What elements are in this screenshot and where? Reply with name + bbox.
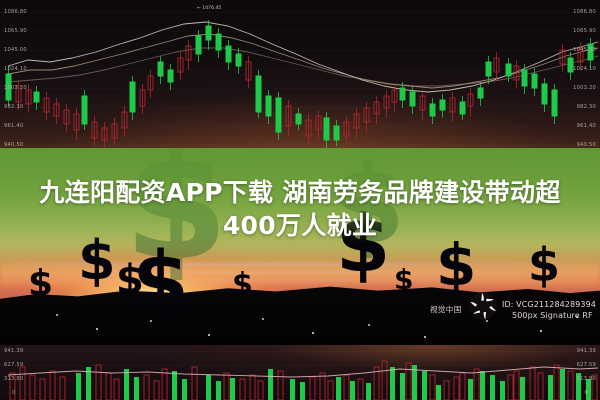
volume-axis-label-right: 0 (584, 390, 588, 396)
sparkle (208, 334, 210, 336)
volume-chart-panel: 941.39 627.59 313.80 0 941.39 627.59 313… (0, 345, 600, 400)
candle-group (6, 20, 593, 148)
dollar-sign-icon: $ (28, 266, 53, 302)
volume-plot (0, 345, 600, 400)
y-axis-label-left: 1045.00 (4, 47, 27, 53)
y-axis-label-right: 1003.20 (573, 85, 596, 91)
sparkle (368, 324, 370, 326)
sparkle (262, 318, 264, 320)
sparkle (424, 336, 426, 338)
y-axis-label-right: 1024.10 (573, 66, 596, 72)
y-axis-label-left: 1003.20 (4, 85, 27, 91)
y-axis-label-right: 961.40 (577, 123, 596, 129)
volume-bars (10, 361, 597, 400)
green-title-veil (0, 148, 600, 242)
y-axis-label-right: 1045.00 (573, 47, 596, 53)
dollar-sign-icon: $ (394, 266, 413, 294)
volume-axis-label-left: 627.59 (4, 362, 23, 368)
volume-ma-line (8, 367, 598, 377)
volume-axis-label-left: 0 (12, 390, 16, 396)
y-axis-label-left: 982.30 (4, 104, 23, 110)
sparkle (312, 332, 314, 334)
sparkle (56, 314, 58, 316)
y-axis-label-right: 982.30 (577, 104, 596, 110)
y-axis-label-left: 1024.10 (4, 66, 27, 72)
dollar-sign-icon: $ (132, 242, 189, 324)
y-axis-label-left: 961.40 (4, 123, 23, 129)
ma-short-line (8, 22, 598, 92)
y-axis-label-left: 1086.80 (4, 9, 27, 15)
watermark-id: ID: VCG211284289394 (502, 300, 596, 309)
volume-axis-label-right: 941.39 (577, 348, 596, 354)
y-axis-label-right: 1086.80 (573, 9, 596, 15)
screenshot-canvas: ← 1076.45 1086.80 1065.90 1045.00 1024.1… (0, 0, 600, 400)
sparkle (150, 320, 152, 322)
watermark-brand: 视觉中国 (430, 304, 462, 315)
candlestick-plot (0, 0, 600, 168)
visual-china-logo-icon (468, 290, 498, 322)
price-annotation: ← 1076.45 (197, 6, 221, 11)
volume-axis-label-right: 627.59 (577, 362, 596, 368)
sparkle (96, 328, 98, 330)
y-axis-label-right: 1065.90 (573, 28, 596, 34)
watermark-license: 500px Signature RF (512, 311, 593, 320)
dollar-sign-icon: $ (232, 270, 253, 300)
volume-axis-label-left: 941.39 (4, 348, 23, 354)
ma-mid-line (8, 34, 598, 88)
volume-axis-label-right: 313.80 (577, 376, 596, 382)
watermark: 视觉中国 ID: VCG211284289394 500px Signature… (420, 282, 600, 332)
y-axis-label-left: 1065.90 (4, 28, 27, 34)
volume-axis-label-left: 313.80 (4, 376, 23, 382)
price-chart-panel: ← 1076.45 1086.80 1065.90 1045.00 1024.1… (0, 0, 600, 168)
